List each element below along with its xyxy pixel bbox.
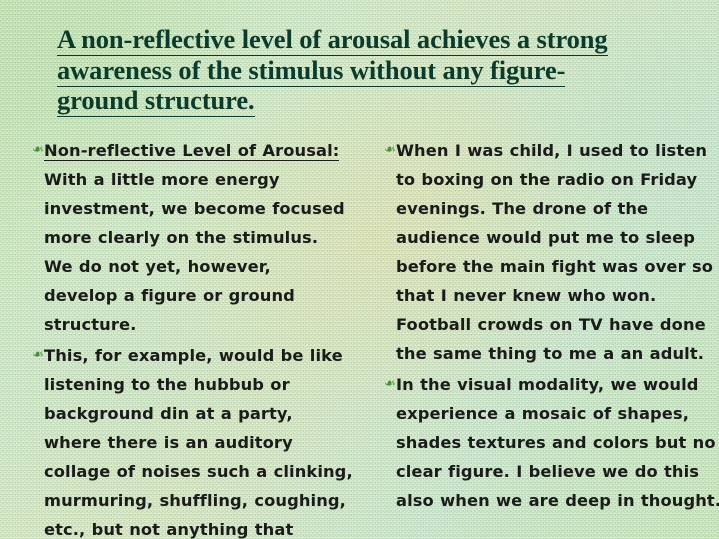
- vine-leaf-bullet-icon: ❧: [22, 341, 44, 370]
- list-item-line: clear figure. I believe we do this: [396, 457, 719, 486]
- slide-title-line-1-text: A non-reflective level of arousal achiev…: [57, 24, 608, 56]
- slide-content: A non-reflective level of arousal achiev…: [0, 0, 719, 539]
- list-item-line: listening to the hubbub or: [44, 370, 366, 399]
- list-item-line: also when we are deep in thought.: [396, 486, 719, 515]
- list-item-line: structure.: [44, 310, 366, 339]
- list-item-line: the same thing to me a an adult.: [396, 339, 714, 368]
- vine-leaf-bullet-icon: ❧: [22, 136, 44, 165]
- list-item: ❧ This, for example, would be like liste…: [22, 341, 366, 539]
- list-item-line: collage of noises such a clinking,: [44, 457, 366, 486]
- list-item-line: In the visual modality, we would: [396, 370, 719, 399]
- vine-leaf-bullet-icon: ❧: [374, 136, 396, 165]
- slide-title-line-2: awareness of the stimulus without any fi…: [57, 55, 691, 86]
- presentation-slide: A non-reflective level of arousal achiev…: [0, 0, 719, 539]
- list-item-text: In the visual modality, we would experie…: [396, 370, 719, 515]
- slide-title-line-3: ground structure.: [57, 85, 691, 116]
- list-item-line: before the main fight was over so: [396, 252, 714, 281]
- list-item: ❧ Non-reflective Level of Arousal: With …: [22, 136, 366, 339]
- list-item-line: etc., but not anything that: [44, 515, 366, 539]
- slide-title-line-3-text: ground structure.: [57, 85, 255, 117]
- vine-leaf-bullet-icon: ❧: [374, 370, 396, 399]
- list-item-line: experience a mosaic of shapes,: [396, 399, 719, 428]
- list-item-line: more clearly on the stimulus.: [44, 223, 366, 252]
- list-item-line: We do not yet, however,: [44, 252, 366, 281]
- list-item-line: With a little more energy: [44, 165, 366, 194]
- list-item-line: Football crowds on TV have done: [396, 310, 714, 339]
- list-item-line: murmuring, shuffling, coughing,: [44, 486, 366, 515]
- slide-title-line-2-text: awareness of the stimulus without any fi…: [57, 55, 565, 87]
- list-item-line: that I never knew who won.: [396, 281, 714, 310]
- underlined-lead-text: Non-reflective Level of Arousal:: [44, 141, 339, 161]
- list-item-text: This, for example, would be like listeni…: [44, 341, 366, 539]
- list-item-line: background din at a party,: [44, 399, 366, 428]
- list-item-line: evenings. The drone of the: [396, 194, 714, 223]
- list-item-text: When I was child, I used to listen to bo…: [396, 136, 714, 368]
- slide-title-line-1: A non-reflective level of arousal achiev…: [57, 24, 691, 55]
- right-column: ❧ When I was child, I used to listen to …: [374, 136, 714, 517]
- list-item-line: Non-reflective Level of Arousal:: [44, 136, 366, 165]
- list-item-line: investment, we become focused: [44, 194, 366, 223]
- list-item-line: to boxing on the radio on Friday: [396, 165, 714, 194]
- list-item: ❧ In the visual modality, we would exper…: [374, 370, 714, 515]
- list-item-text: Non-reflective Level of Arousal: With a …: [44, 136, 366, 339]
- list-item-line: audience would put me to sleep: [396, 223, 714, 252]
- left-column: ❧ Non-reflective Level of Arousal: With …: [22, 136, 366, 539]
- list-item-line: where there is an auditory: [44, 428, 366, 457]
- list-item-line: This, for example, would be like: [44, 341, 366, 370]
- list-item: ❧ When I was child, I used to listen to …: [374, 136, 714, 368]
- list-item-line: When I was child, I used to listen: [396, 136, 714, 165]
- slide-title: A non-reflective level of arousal achiev…: [57, 24, 691, 116]
- list-item-line: shades textures and colors but no: [396, 428, 719, 457]
- list-item-line: develop a figure or ground: [44, 281, 366, 310]
